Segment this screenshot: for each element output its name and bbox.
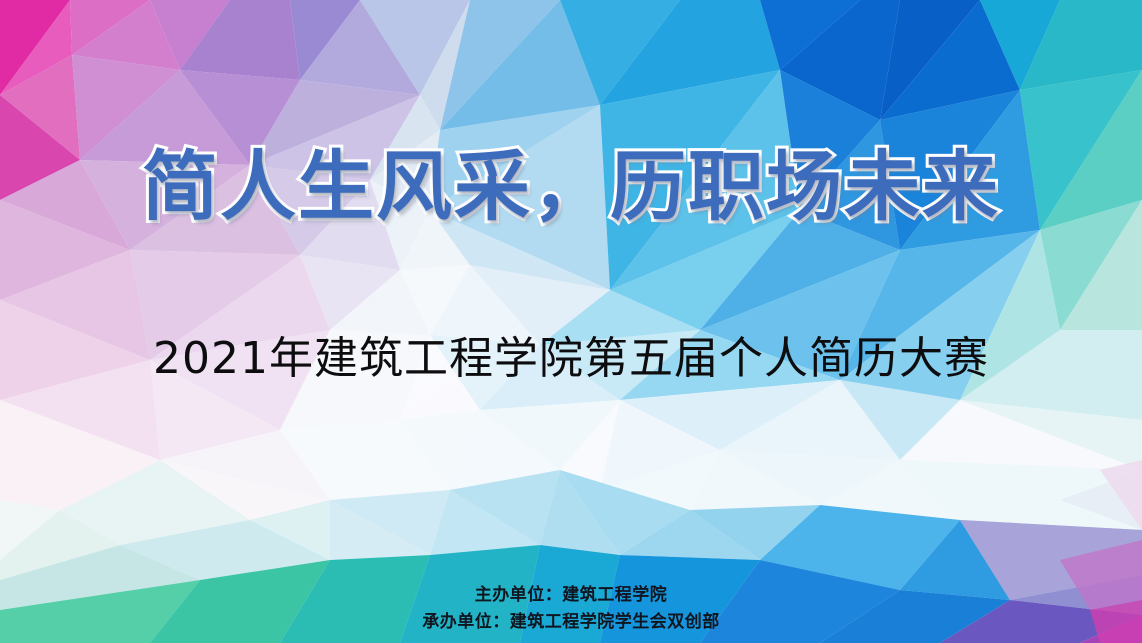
poster-canvas: 简人生风采，历职场未来 2021年建筑工程学院第五届个人简历大赛 主办单位：建筑… [0,0,1142,643]
subtitle: 2021年建筑工程学院第五届个人简历大赛 [0,322,1142,386]
footer-organizer: 主办单位：建筑工程学院 [0,582,1142,608]
poster-content: 简人生风采，历职场未来 2021年建筑工程学院第五届个人简历大赛 主办单位：建筑… [0,0,1142,643]
footer-block: 主办单位：建筑工程学院 承办单位：建筑工程学院学生会双创部 [0,582,1142,635]
main-title: 简人生风采，历职场未来 [0,147,1142,227]
footer-host: 承办单位：建筑工程学院学生会双创部 [0,609,1142,635]
